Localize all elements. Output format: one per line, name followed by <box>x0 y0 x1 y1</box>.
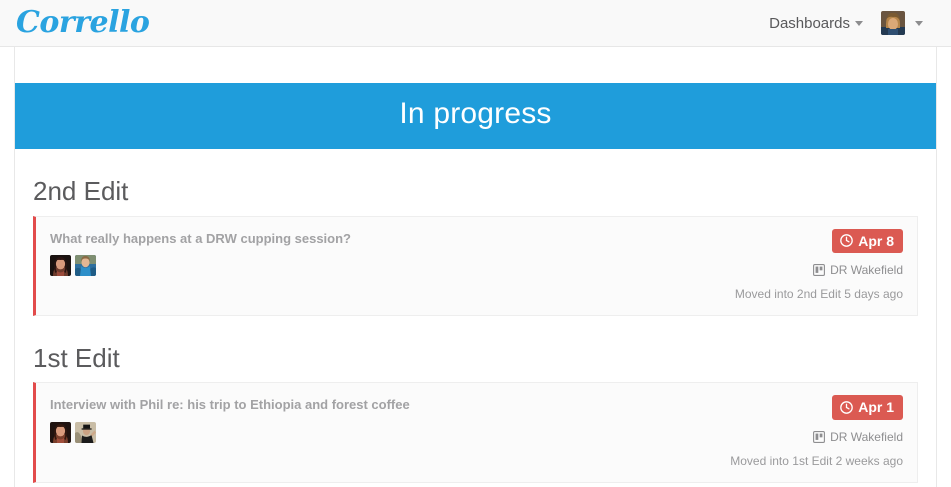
card[interactable]: Interview with Phil re: his trip to Ethi… <box>33 382 918 482</box>
board-info: DR Wakefield <box>730 430 903 446</box>
board-name: DR Wakefield <box>830 263 903 279</box>
board-name: DR Wakefield <box>830 430 903 446</box>
list-group: 1st Edit Interview with Phil re: his tri… <box>33 316 918 483</box>
page-body: In progress 2nd Edit What really happens… <box>0 47 951 487</box>
moved-status: Moved into 2nd Edit 5 days ago <box>735 287 903 303</box>
chevron-down-icon <box>855 21 863 26</box>
chevron-down-icon <box>915 21 923 26</box>
group-heading: 1st Edit <box>33 316 918 383</box>
groups-wrapper: 2nd Edit What really happens at a DRW cu… <box>15 149 936 483</box>
due-date-label: Apr 8 <box>858 233 894 249</box>
content-spacer <box>15 47 936 83</box>
card[interactable]: What really happens at a DRW cupping ses… <box>33 216 918 316</box>
avatar[interactable] <box>50 422 71 443</box>
card-main: What really happens at a DRW cupping ses… <box>50 229 351 277</box>
dashboards-menu[interactable]: Dashboards <box>769 15 863 32</box>
avatar <box>881 11 905 35</box>
section-title: In progress <box>399 97 551 130</box>
content-container: In progress 2nd Edit What really happens… <box>14 47 937 487</box>
due-date-badge[interactable]: Apr 8 <box>832 229 903 253</box>
trello-board-icon <box>813 431 825 443</box>
due-date-label: Apr 1 <box>858 399 894 415</box>
dashboards-label: Dashboards <box>769 15 850 32</box>
group-heading: 2nd Edit <box>33 149 918 216</box>
top-navbar: Corrello Dashboards <box>0 0 951 47</box>
card-title[interactable]: What really happens at a DRW cupping ses… <box>50 231 351 247</box>
avatar[interactable] <box>50 255 71 276</box>
avatar[interactable] <box>75 255 96 276</box>
avatar[interactable] <box>75 422 96 443</box>
list-group: 2nd Edit What really happens at a DRW cu… <box>33 149 918 316</box>
user-menu[interactable] <box>881 11 923 35</box>
card-meta: Apr 8 DR Wakefield <box>735 229 903 303</box>
board-info: DR Wakefield <box>735 263 903 279</box>
card-members <box>50 422 410 443</box>
clock-icon <box>840 401 853 414</box>
due-date-badge[interactable]: Apr 1 <box>832 395 903 419</box>
card-main: Interview with Phil re: his trip to Ethi… <box>50 395 410 443</box>
moved-status: Moved into 1st Edit 2 weeks ago <box>730 454 903 470</box>
card-title[interactable]: Interview with Phil re: his trip to Ethi… <box>50 397 410 413</box>
clock-icon <box>840 234 853 247</box>
app-logo[interactable]: Corrello <box>14 8 149 38</box>
trello-board-icon <box>813 264 825 276</box>
card-members <box>50 255 351 276</box>
navbar-right: Dashboards <box>769 11 937 35</box>
section-banner: In progress <box>15 83 936 149</box>
card-meta: Apr 1 DR Wakefield <box>730 395 903 469</box>
